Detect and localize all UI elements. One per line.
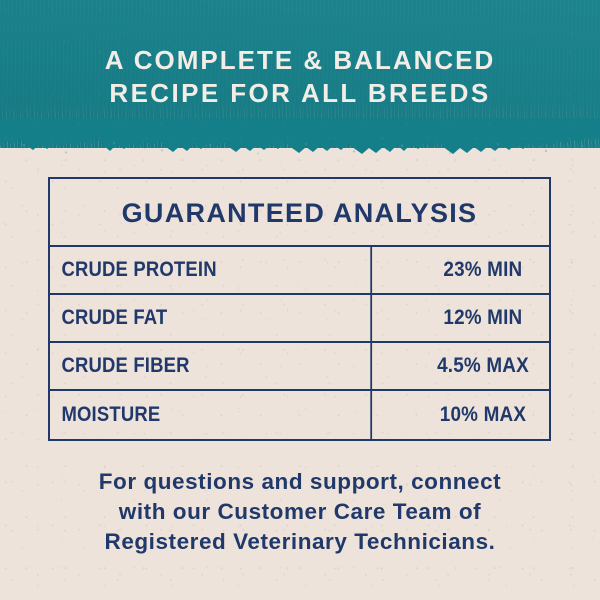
nutrient-value: 4.5% MAX	[416, 343, 549, 389]
support-message-line-3: Registered Veterinary Technicians.	[0, 527, 600, 557]
nutrient-value-text: 12% MIN	[443, 306, 522, 330]
page-title: A COMPLETE & BALANCED RECIPE FOR ALL BRE…	[0, 44, 600, 110]
table-row: CRUDE FAT 12% MIN	[50, 295, 549, 343]
page-title-line-1: A COMPLETE & BALANCED	[0, 44, 600, 77]
product-info-panel: A COMPLETE & BALANCED RECIPE FOR ALL BRE…	[0, 0, 600, 600]
nutrient-label: CRUDE FIBER	[50, 343, 372, 389]
table-row: MOISTURE 10% MAX	[50, 391, 549, 439]
nutrient-value: 12% MIN	[416, 295, 549, 341]
nutrient-value: 10% MAX	[416, 391, 549, 439]
nutrient-value: 23% MIN	[416, 247, 549, 293]
table-row: CRUDE PROTEIN 23% MIN	[50, 247, 549, 295]
nutrient-label: MOISTURE	[50, 391, 372, 439]
page-title-line-2: RECIPE FOR ALL BREEDS	[0, 77, 600, 110]
support-message-line-2: with our Customer Care Team of	[0, 497, 600, 527]
nutrient-value-text: 23% MIN	[443, 258, 522, 282]
support-message: For questions and support, connect with …	[0, 467, 600, 557]
nutrient-value-text: 10% MAX	[439, 403, 525, 427]
guaranteed-analysis-table: GUARANTEED ANALYSIS CRUDE PROTEIN 23% MI…	[48, 177, 551, 441]
guaranteed-analysis-title: GUARANTEED ANALYSIS	[50, 179, 549, 247]
nutrient-label: CRUDE PROTEIN	[50, 247, 372, 293]
nutrient-value-text: 4.5% MAX	[437, 354, 529, 378]
nutrient-label: CRUDE FAT	[50, 295, 372, 341]
support-message-line-1: For questions and support, connect	[0, 467, 600, 497]
table-row: CRUDE FIBER 4.5% MAX	[50, 343, 549, 391]
